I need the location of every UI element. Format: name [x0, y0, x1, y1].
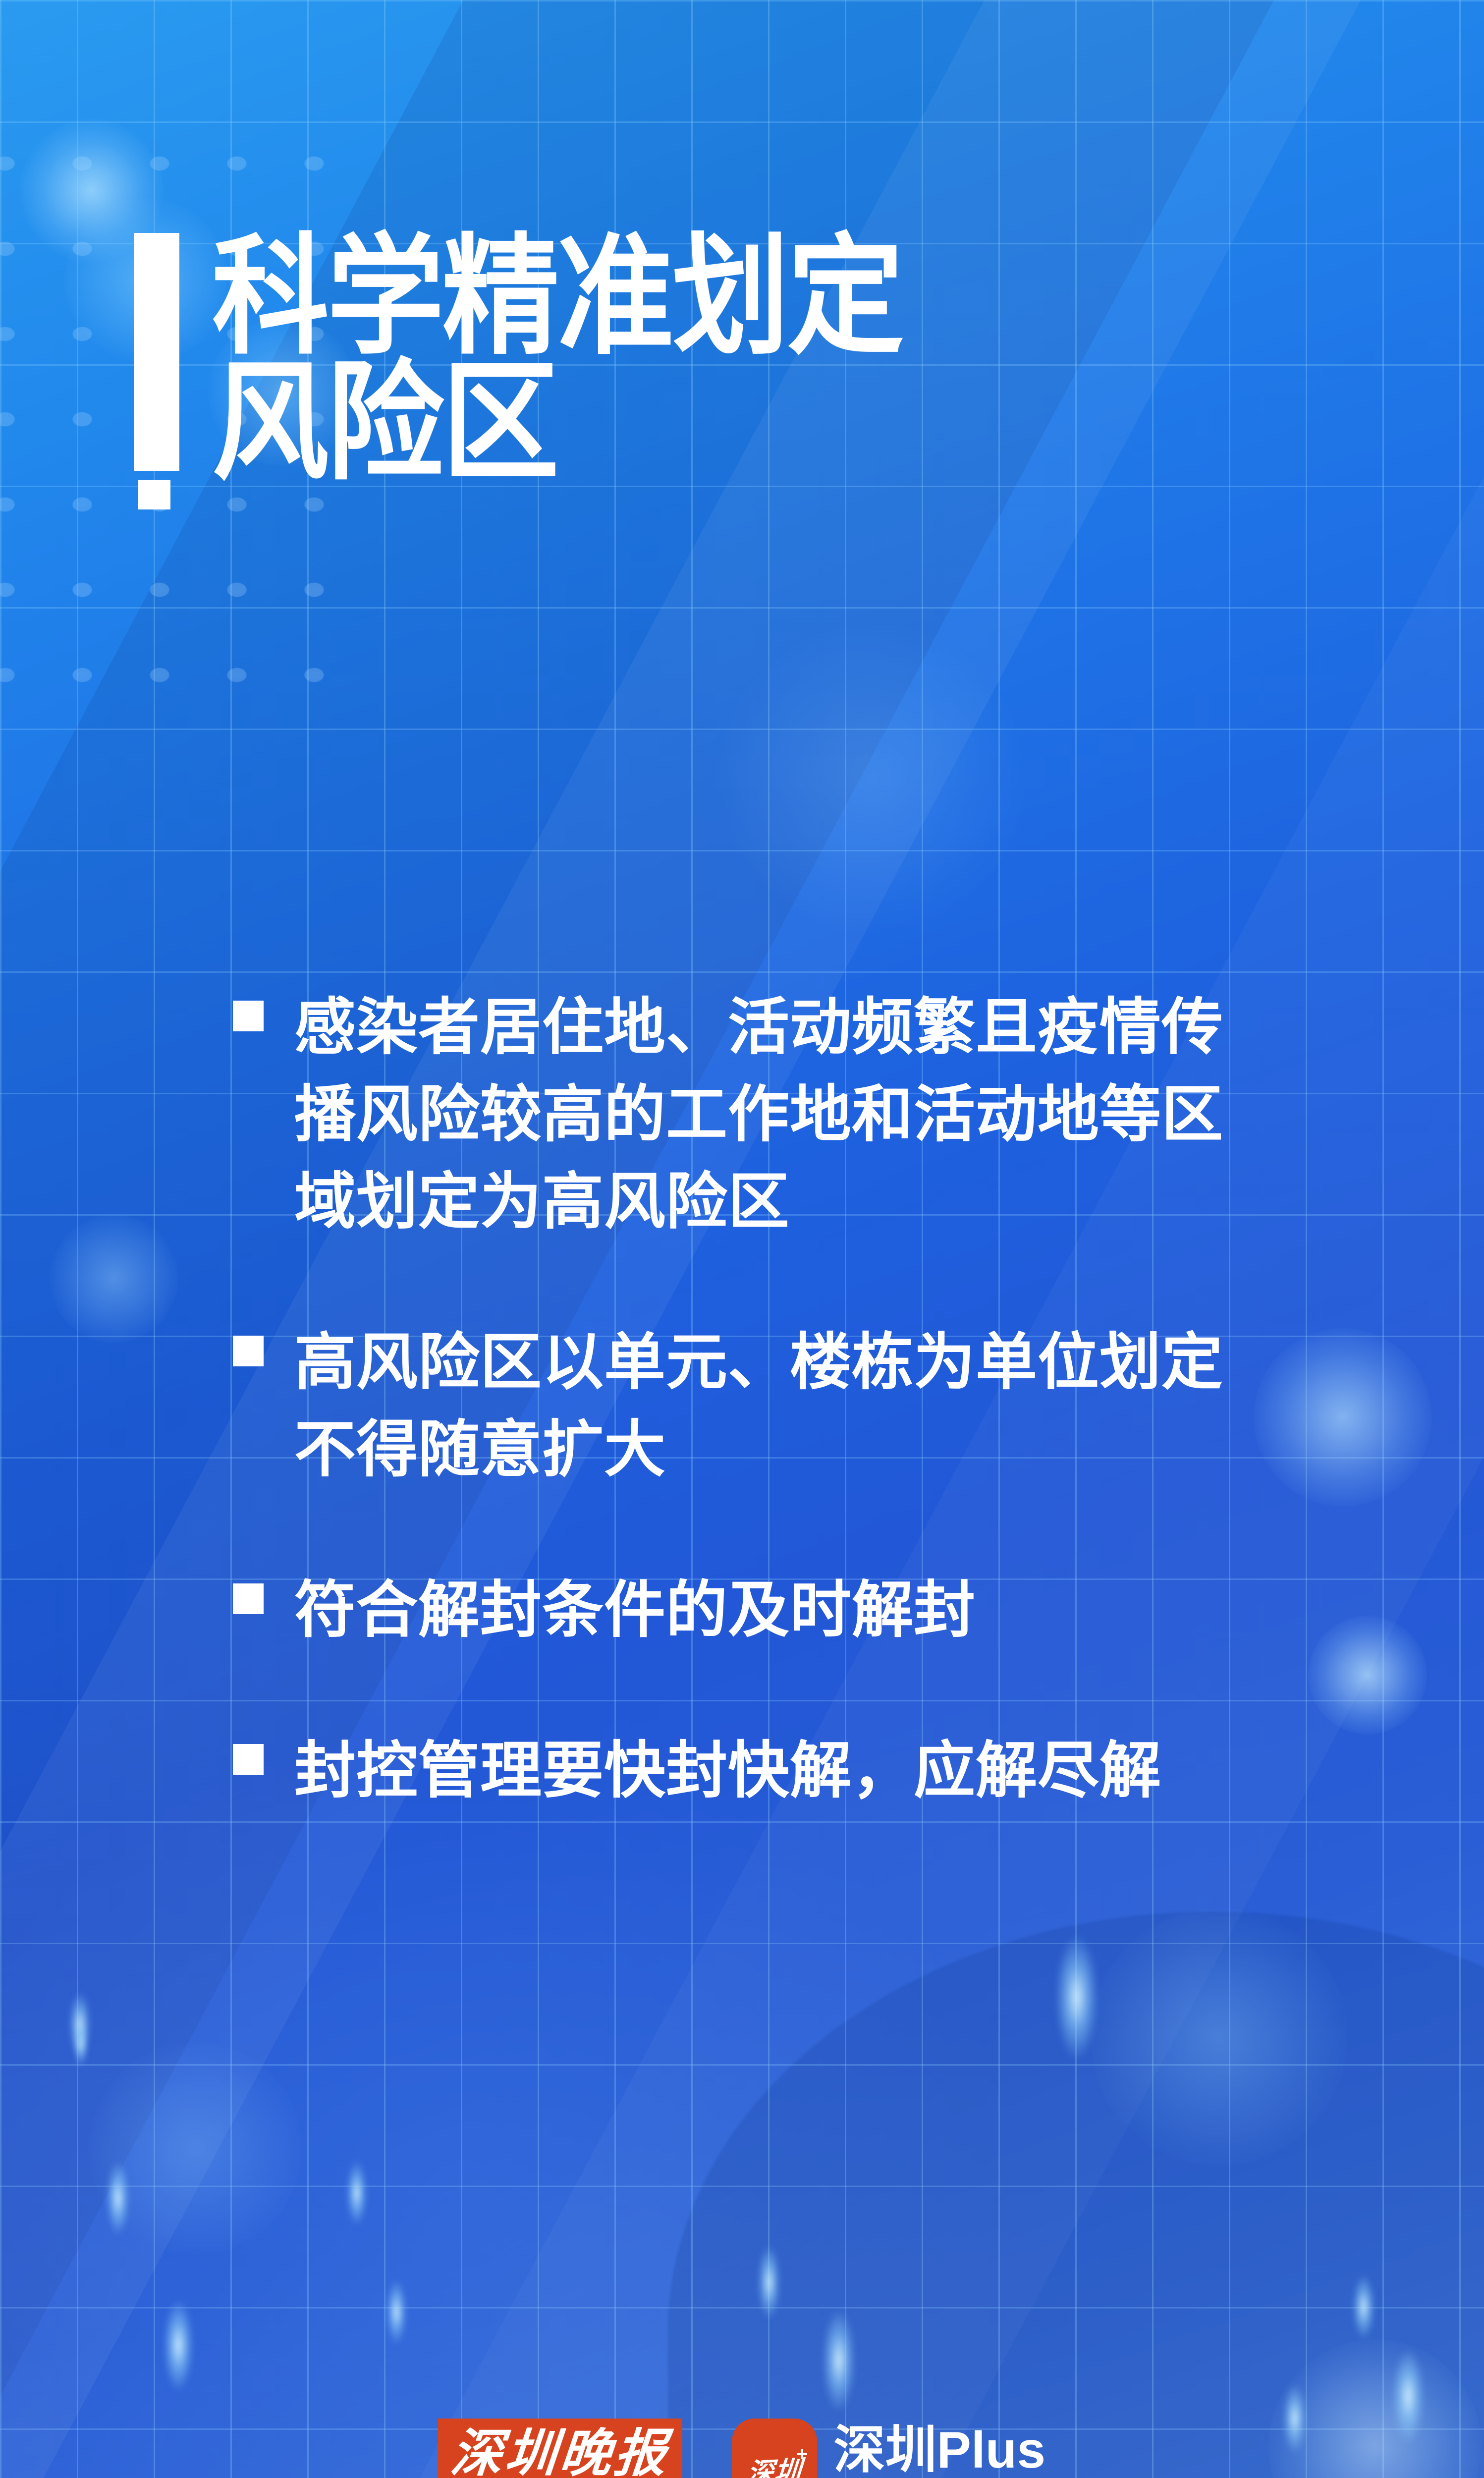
list-item: 高风险区以单元、楼栋为单位划定不得随意扩大 [233, 1319, 1298, 1493]
glow-streak [1055, 1935, 1098, 2059]
bokeh-glow [1090, 1908, 1348, 2166]
footer-logos: 深圳晚报 给生活更多创意 深圳 + 深圳Plus 湾区生活美学家 [0, 2419, 1484, 2478]
lower-arc-shape [668, 1912, 1484, 2478]
glow-streak [386, 2280, 406, 2344]
shenzhen-evening-news-logo: 深圳晚报 给生活更多创意 [438, 2419, 682, 2478]
square-bullet-icon [233, 1583, 264, 1614]
badge-wordmark: 深圳 [745, 2448, 803, 2478]
bokeh-glow [89, 2042, 302, 2255]
shenzhen-plus-text: 深圳Plus 湾区生活美学家 [834, 2422, 1046, 2478]
glow-streak [74, 2022, 87, 2067]
plus-sign-icon: + [796, 2444, 808, 2464]
sznews-wordmark-box: 深圳晚报 [438, 2419, 682, 2478]
list-item-text: 封控管理要快封快解，应解尽解 [294, 1727, 1161, 1814]
glow-streak [347, 2161, 367, 2225]
glow-streak [69, 1992, 90, 2057]
list-item: 封控管理要快封快解，应解尽解 [233, 1727, 1298, 1814]
bokeh-glow [1308, 1616, 1427, 1735]
square-bullet-icon [233, 1336, 264, 1366]
section-number-period [138, 480, 170, 509]
shenzhen-plus-badge-icon: 深圳 + [732, 2419, 817, 2478]
list-item-text: 符合解封条件的及时解封 [294, 1567, 976, 1654]
page-title: 科学精准划定 风险区 [212, 233, 902, 485]
sznews-wordmark: 深圳晚报 [449, 2425, 672, 2478]
shenzhen-plus-logo: 深圳 + 深圳Plus 湾区生活美学家 [732, 2419, 1046, 2478]
shenzhen-plus-wordmark: 深圳Plus [834, 2422, 1046, 2478]
list-item-text: 感染者居住地、活动频繁且疫情传播风险较高的工作地和活动地等区域划定为高风险区 [294, 984, 1280, 1245]
square-bullet-icon [233, 1001, 264, 1031]
glow-streak [1353, 2275, 1374, 2339]
glow-streak [107, 2161, 129, 2235]
bullet-list: 感染者居住地、活动频繁且疫情传播风险较高的工作地和活动地等区域划定为高风险区 高… [233, 984, 1298, 1815]
bokeh-glow [50, 1214, 178, 1343]
section-number-mark [134, 233, 192, 510]
section-number-bar [134, 233, 179, 471]
headline: 科学精准划定 风险区 [134, 233, 979, 510]
list-item: 感染者居住地、活动频繁且疫情传播风险较高的工作地和活动地等区域划定为高风险区 [233, 984, 1298, 1245]
poster-canvas: 科学精准划定 风险区 感染者居住地、活动频繁且疫情传播风险较高的工作地和活动地等… [0, 0, 1484, 2478]
bokeh-glow [718, 624, 1026, 932]
list-item: 符合解封条件的及时解封 [233, 1567, 1298, 1654]
glow-streak [164, 2300, 193, 2391]
glow-streak [758, 2245, 780, 2319]
list-item-text: 高风险区以单元、楼栋为单位划定不得随意扩大 [294, 1319, 1280, 1493]
glow-streak [823, 2309, 855, 2411]
square-bullet-icon [233, 1744, 264, 1775]
